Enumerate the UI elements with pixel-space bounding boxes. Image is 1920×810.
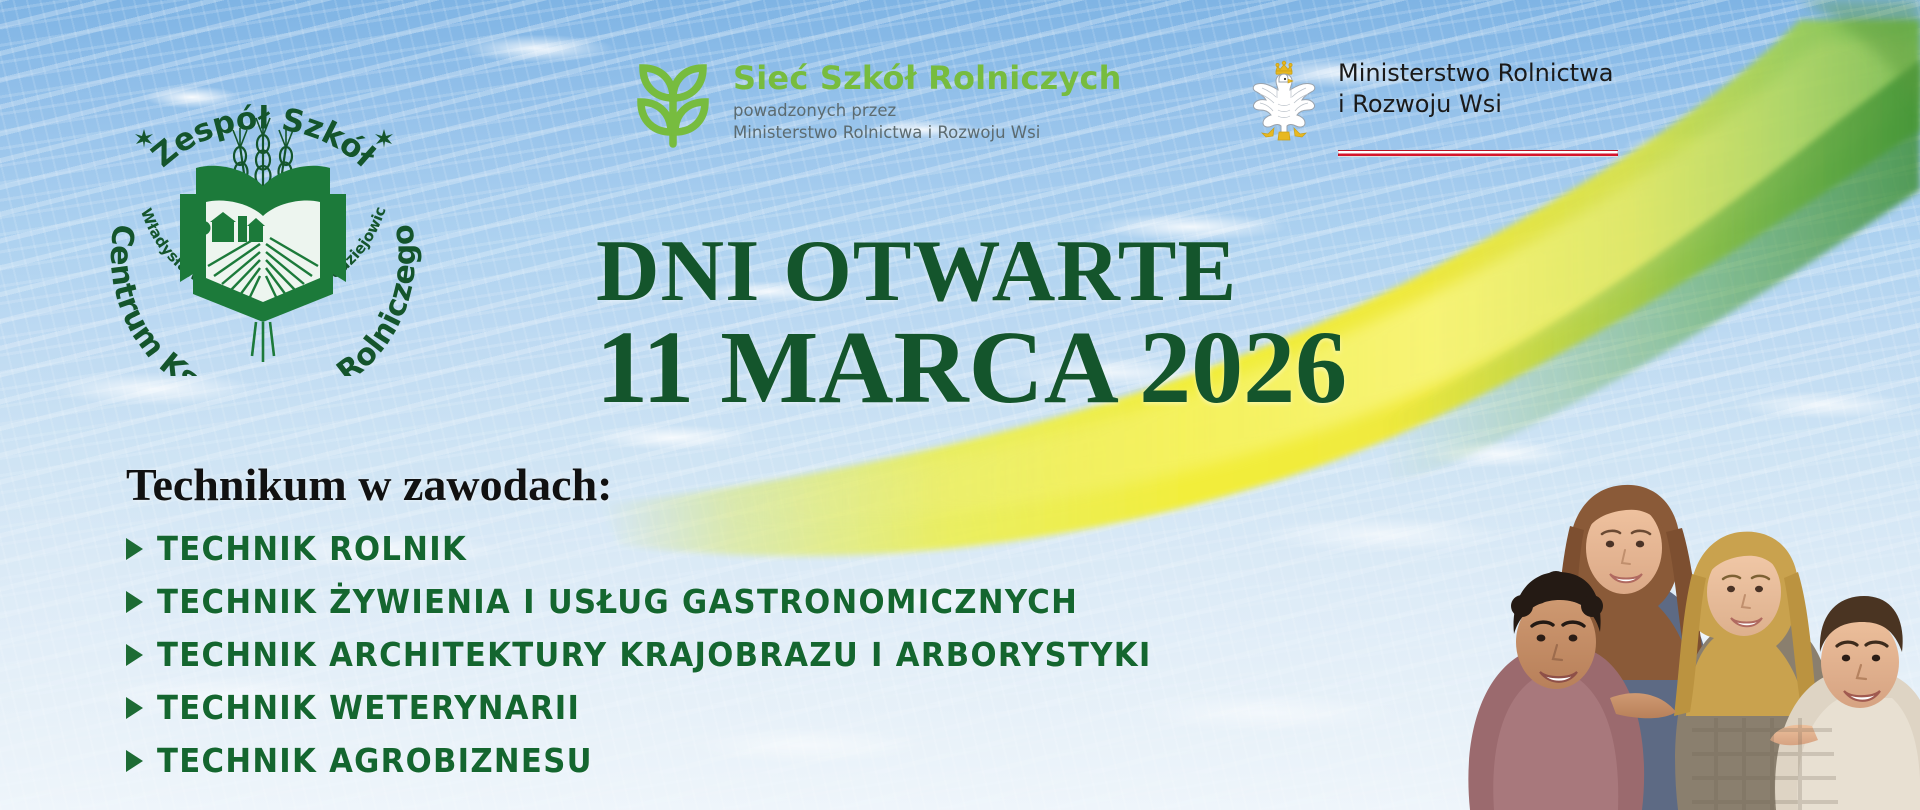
triangle-bullet-icon <box>126 697 143 719</box>
headline-line-2: 11 MARCA 2026 <box>596 318 1347 418</box>
program-label: TECHNIK AGROBIZNESU <box>157 741 593 780</box>
triangle-bullet-icon <box>126 538 143 560</box>
triangle-bullet-icon <box>126 644 143 666</box>
open-book-field-emblem <box>180 166 346 362</box>
swoosh-corner-foliage <box>1800 0 1920 110</box>
network-logo-title: Sieć Szkół Rolniczych <box>733 62 1122 96</box>
polish-white-eagle-icon <box>1248 58 1320 149</box>
ministry-red-white-rule <box>1338 150 1618 157</box>
list-item: TECHNIK ROLNIK <box>126 529 1226 568</box>
list-item: TECHNIK WETERYNARII <box>126 688 1226 727</box>
ministry-logo: Ministerstwo Rolnictwa i Rozwoju Wsi <box>1248 58 1613 149</box>
list-item: TECHNIK ŻYWIENIA I USŁUG GASTRONOMICZNYC… <box>126 582 1226 621</box>
students-group-photo <box>1440 380 1920 810</box>
program-label: TECHNIK WETERYNARII <box>157 688 580 727</box>
triangle-bullet-icon <box>126 750 143 772</box>
sprout-leaf-icon <box>627 58 719 155</box>
headline-line-1: DNI OTWARTE <box>596 230 1347 314</box>
programs-section: Technikum w zawodach: TECHNIK ROLNIK TEC… <box>126 458 1226 794</box>
triangle-bullet-icon <box>126 591 143 613</box>
network-of-agricultural-schools-logo: Sieć Szkół Rolniczych powadzonych przez … <box>627 58 1122 155</box>
program-label: TECHNIK ROLNIK <box>157 529 467 568</box>
list-item: TECHNIK AGROBIZNESU <box>126 741 1226 780</box>
list-item: TECHNIK ARCHITEKTURY KRAJOBRAZU I ARBORY… <box>126 635 1226 674</box>
programs-heading: Technikum w zawodach: <box>126 458 1226 511</box>
ministry-title-line1: Ministerstwo Rolnictwa <box>1338 58 1613 89</box>
program-label: TECHNIK ŻYWIENIA I USŁUG GASTRONOMICZNYC… <box>157 582 1078 621</box>
school-circular-logo: Zespół Szkół Centrum Kształcenia Rolnicz… <box>88 26 438 376</box>
network-logo-subtitle-line1: powadzonych przez <box>733 100 1122 122</box>
program-label: TECHNIK ARCHITEKTURY KRAJOBRAZU I ARBORY… <box>157 635 1152 674</box>
ministry-title-line2: i Rozwoju Wsi <box>1338 89 1613 120</box>
event-headline: DNI OTWARTE 11 MARCA 2026 <box>596 230 1347 418</box>
network-logo-subtitle-line2: Ministerstwo Rolnictwa i Rozwoju Wsi <box>733 122 1122 144</box>
open-days-banner: Zespół Szkół Centrum Kształcenia Rolnicz… <box>0 0 1920 810</box>
